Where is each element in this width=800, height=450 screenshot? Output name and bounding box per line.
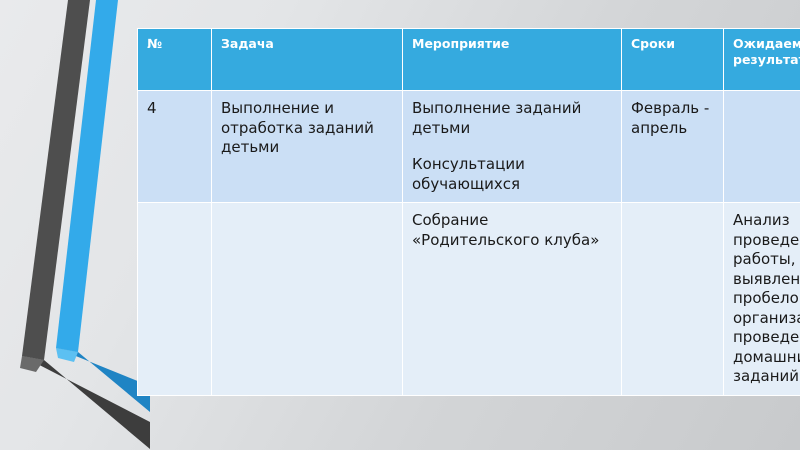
column-header-event: Мероприятие — [403, 29, 622, 91]
cell-term — [622, 203, 724, 396]
cell-term: Февраль - апрель — [622, 91, 724, 203]
column-header-result: Ожидаемый результат — [724, 29, 800, 91]
plan-table-container: № Задача Мероприятие Сроки Ожидаемый рез… — [137, 28, 790, 448]
chevron-blue-bend-highlight — [56, 348, 78, 362]
cell-num — [138, 203, 212, 396]
chevron-blue-upper-band — [56, 0, 118, 352]
table-header: № Задача Мероприятие Сроки Ожидаемый рез… — [138, 29, 800, 91]
chevron-gray-upper-band — [22, 0, 90, 360]
cell-result: Анализ проведенной работы, выявление про… — [724, 203, 800, 396]
plan-table: № Задача Мероприятие Сроки Ожидаемый рез… — [137, 28, 800, 396]
cell-num: 4 — [138, 91, 212, 203]
cell-event: Выполнение заданий детьми Консультации о… — [403, 91, 622, 203]
cell-event: Собрание «Родительского клуба» — [403, 203, 622, 396]
cell-result — [724, 91, 800, 203]
column-header-task: Задача — [212, 29, 403, 91]
cell-task — [212, 203, 403, 396]
table-row: Собрание «Родительского клуба» Анализ пр… — [138, 203, 800, 396]
cell-task: Выполнение и отработка заданий детьми — [212, 91, 403, 203]
event-paragraph: Выполнение заданий детьми — [412, 99, 613, 138]
table-body: 4 Выполнение и отработка заданий детьми … — [138, 91, 800, 396]
table-row: 4 Выполнение и отработка заданий детьми … — [138, 91, 800, 203]
slide-canvas: № Задача Мероприятие Сроки Ожидаемый рез… — [0, 0, 800, 450]
chevron-arrow-graphic — [0, 0, 150, 450]
chevron-gray-bend-highlight — [20, 356, 44, 372]
event-paragraph: Консультации обучающихся — [412, 155, 613, 194]
column-header-term: Сроки — [622, 29, 724, 91]
chevron-gray-lower-band — [22, 356, 150, 449]
column-header-num: № — [138, 29, 212, 91]
table-header-row: № Задача Мероприятие Сроки Ожидаемый рез… — [138, 29, 800, 91]
event-paragraph: Собрание «Родительского клуба» — [412, 211, 613, 250]
chevron-blue-lower-band — [56, 348, 150, 412]
